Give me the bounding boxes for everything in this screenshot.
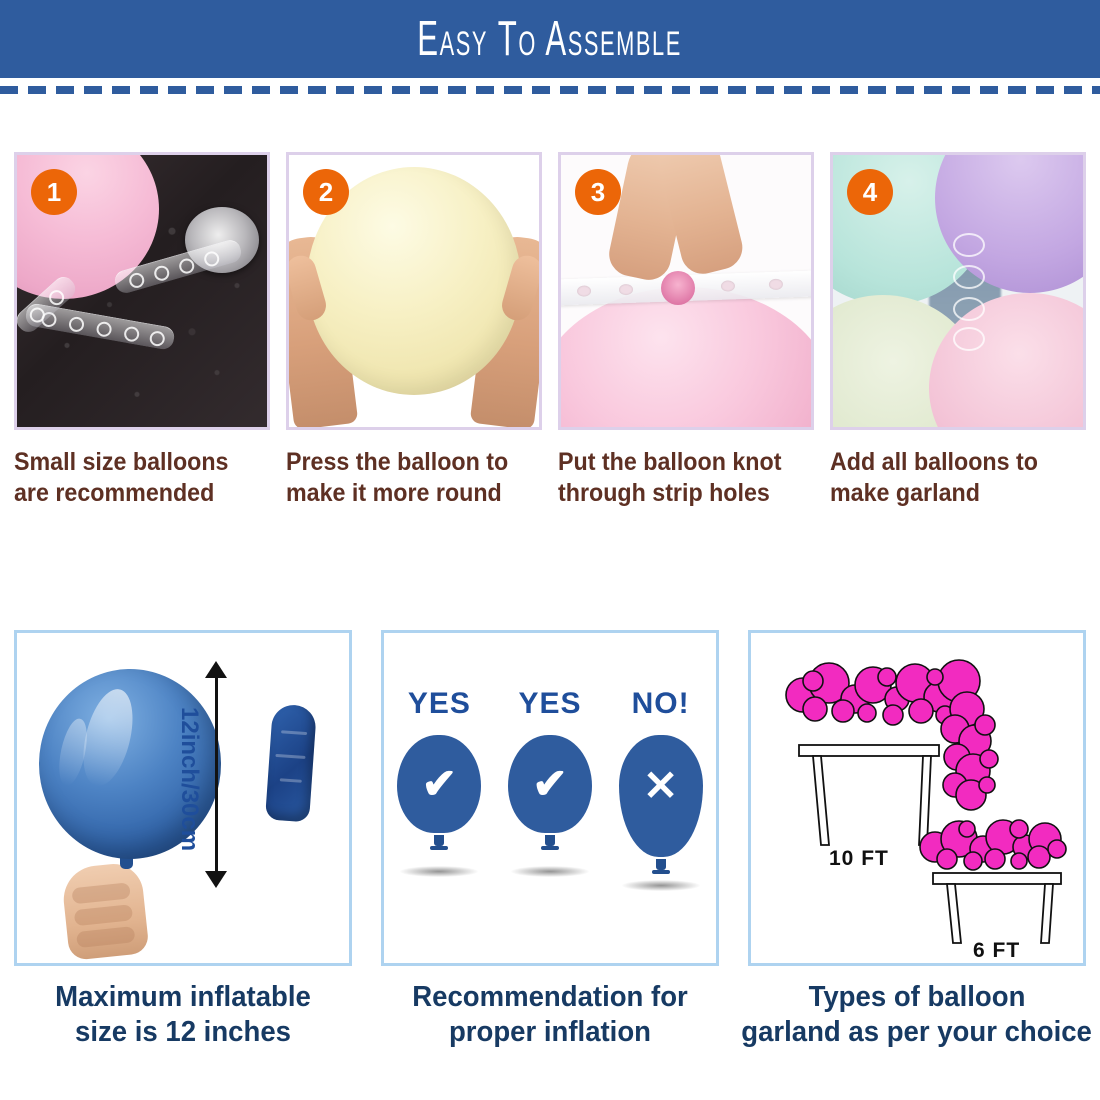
step-cell-1: 1 Small size balloons are recommended (14, 152, 270, 522)
option-label-yes: YES (502, 687, 598, 721)
inflation-option-1: YES ✔ (391, 687, 487, 877)
panel-caption-line2: size is 12 inches (22, 1015, 343, 1050)
step-caption-2: Press the balloon to make it more round (286, 447, 524, 509)
cross-icon-wrap: ✕ (619, 765, 703, 807)
deflated-balloon-shape (265, 704, 317, 823)
balloon-knot-shape (953, 327, 985, 351)
balloon-tie-bar (430, 846, 448, 850)
step-caption-line2: through strip holes (558, 478, 796, 509)
knuckle-line (74, 904, 133, 926)
garland-6ft-balloons (920, 820, 1066, 870)
step-caption-4: Add all balloons to make garland (830, 447, 1068, 509)
step-badge-2: 2 (303, 169, 349, 215)
step-badge-3: 3 (575, 169, 621, 215)
balloon-shadow (622, 880, 700, 891)
step-caption-1: Small size balloons are recommended (14, 447, 252, 509)
strip-hole-icon (127, 271, 146, 290)
step-badge-4: 4 (847, 169, 893, 215)
step-caption-line2: make it more round (286, 478, 524, 509)
panel-caption-max-size: Maximum inflatable size is 12 inches (22, 980, 343, 1050)
step-caption-line1: Add all balloons to (830, 447, 1068, 478)
dimension-label: 12inch/30cm (175, 707, 203, 851)
balloon-tie-bar (541, 846, 559, 850)
fold-line (281, 730, 307, 735)
step-cell-2: 2 Press the balloon to make it more roun… (286, 152, 542, 522)
inflation-option-3: NO! ✕ (613, 687, 709, 891)
panel-caption-line1: Maximum inflatable (22, 980, 343, 1015)
panel-caption-garland: Types of balloon garland as per your cho… (756, 980, 1077, 1050)
inflation-options-row: YES ✔ YES ✔ (384, 687, 716, 891)
step-cell-4: 4 Add all balloons to make garland (830, 152, 1086, 522)
dimension-line (215, 675, 218, 873)
step-caption-line1: Small size balloons (14, 447, 252, 478)
panel-inflation-figure: YES ✔ YES ✔ (381, 630, 719, 966)
table-6ft (933, 873, 1061, 943)
panel-caption-line1: Recommendation for (389, 980, 710, 1015)
panel-inflation-recommendation: YES ✔ YES ✔ (381, 630, 719, 1082)
option-label-no: NO! (613, 687, 709, 721)
table-10ft (799, 745, 939, 845)
balloon-knot-shape (953, 265, 985, 289)
panel-caption-line2: proper inflation (389, 1015, 710, 1050)
strip-hole-icon (152, 264, 171, 283)
step-badge-1: 1 (31, 169, 77, 215)
cross-icon: ✕ (643, 762, 678, 809)
balloon-tie-bar (652, 870, 670, 874)
balloon-shadow (511, 866, 589, 877)
balloon-teardrop-shape: ✕ (619, 735, 703, 857)
balloon-knot-shape (661, 271, 695, 305)
steps-row: 1 Small size balloons are recommended 2 … (14, 152, 1086, 522)
balloon-tie-shape (434, 835, 444, 846)
balloon-shadow (400, 866, 478, 877)
panel-garland-types: 10 FT 6 FT Types of balloon garland as p… (748, 630, 1086, 1082)
panel-garland-figure: 10 FT 6 FT (748, 630, 1086, 966)
balloon-tie-shape (545, 835, 555, 846)
strip-hole-icon (202, 250, 221, 269)
info-panels-row: 12inch/30cm Maximum inflatable size is 1… (14, 630, 1086, 1082)
balloon-knot-shape (953, 233, 985, 257)
fold-line (280, 778, 302, 783)
panel-caption-inflation: Recommendation for proper inflation (389, 980, 710, 1050)
step-photo-3: 3 (558, 152, 814, 430)
panel-caption-line1: Types of balloon (756, 980, 1077, 1015)
strip-hole-icon (149, 330, 166, 347)
step-photo-4: 4 (830, 152, 1086, 430)
strip-hole-icon (769, 279, 783, 290)
pink-balloon-shape (558, 287, 814, 430)
option-label-yes: YES (391, 687, 487, 721)
step-photo-1: 1 (14, 152, 270, 430)
size-label-10ft: 10 FT (829, 847, 889, 871)
hand-holding-balloon-shape (60, 861, 149, 961)
step-caption-line1: Put the balloon knot (558, 447, 796, 478)
strip-hole-icon (68, 316, 85, 333)
panel-max-size: 12inch/30cm Maximum inflatable size is 1… (14, 630, 352, 1082)
garland-diagram (751, 633, 1083, 963)
strip-hole-icon (177, 257, 196, 276)
step-caption-line1: Press the balloon to (286, 447, 524, 478)
strip-hole-icon (619, 284, 633, 295)
strip-hole-icon (721, 280, 735, 291)
balloon-round-shape: ✔ (397, 735, 481, 833)
check-icon: ✔ (422, 763, 457, 805)
balloon-knot-shape (953, 297, 985, 321)
step-photo-2: 2 (286, 152, 542, 430)
knuckle-line (71, 882, 130, 904)
step-caption-line2: are recommended (14, 478, 252, 509)
header-banner: Easy To Assemble (0, 0, 1100, 78)
step-caption-3: Put the balloon knot through strip holes (558, 447, 796, 509)
balloon-round-shape: ✔ (508, 735, 592, 833)
strip-hole-icon (123, 325, 140, 342)
check-icon: ✔ (532, 763, 567, 805)
knuckle-line (76, 926, 135, 948)
dashed-divider (0, 86, 1100, 94)
step-cell-3: 3 Put the balloon knot through strip hol… (558, 152, 814, 522)
step-caption-line2: make garland (830, 478, 1068, 509)
balloon-tie-shape (656, 859, 666, 870)
arrow-down-icon (205, 871, 227, 888)
strip-hole-icon (95, 321, 112, 338)
page-title: Easy To Assemble (418, 12, 683, 67)
panel-caption-line2: garland as per your choice (741, 1015, 1062, 1050)
panel-max-size-figure: 12inch/30cm (14, 630, 352, 966)
strip-hole-icon (577, 285, 591, 296)
size-label-6ft: 6 FT (973, 939, 1020, 963)
fold-line (275, 754, 305, 759)
inflation-option-2: YES ✔ (502, 687, 598, 877)
